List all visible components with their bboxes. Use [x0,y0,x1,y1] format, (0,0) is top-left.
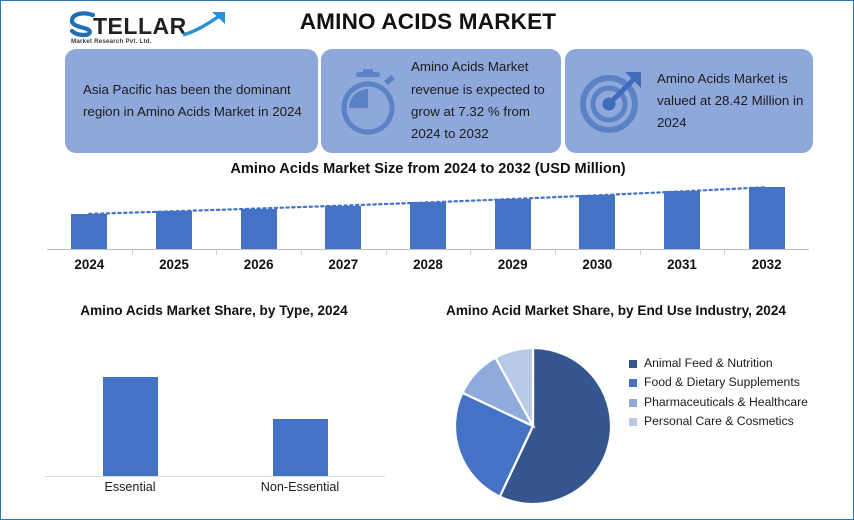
x-axis-tick [470,249,471,255]
legend-swatch-icon [629,360,637,368]
page-title: AMINO ACIDS MARKET [1,9,854,35]
market-size-chart-title: Amino Acids Market Size from 2024 to 203… [1,161,854,177]
stopwatch-icon [329,62,407,140]
callout-text: Amino Acids Market revenue is expected t… [407,56,561,145]
pie-legend: Animal Feed & NutritionFood & Dietary Su… [629,355,851,432]
legend-swatch-icon [629,418,637,426]
x-axis-tick [555,249,556,255]
x-label-2031: 2031 [640,257,724,272]
legend-label: Personal Care & Cosmetics [644,413,794,430]
callout-text: Asia Pacific has been the dominant regio… [65,79,318,124]
x-label-2025: 2025 [132,257,216,272]
legend-label: Pharmaceuticals & Healthcare [644,394,808,411]
x-axis-line [47,249,809,250]
x-label-2032: 2032 [725,257,809,272]
x-axis-tick [724,249,725,255]
x-label-2030: 2030 [555,257,639,272]
market-share-by-type-chart: EssentialNon-Essential [45,359,385,509]
x-label-non-essential: Non-Essential [225,480,375,494]
market-share-by-end-use-chart-title: Amino Acid Market Share, by End Use Indu… [416,301,816,321]
x-label-2024: 2024 [47,257,131,272]
legend-item: Personal Care & Cosmetics [629,413,851,430]
target-dartboard-icon [573,62,651,140]
legend-item: Animal Feed & Nutrition [629,355,851,372]
callout-cagr: Amino Acids Market revenue is expected t… [321,49,561,153]
infographic-canvas: TELLAR Market Research Pvt. Ltd. AMINO A… [0,0,854,520]
legend-label: Food & Dietary Supplements [644,374,800,391]
type-axis-line [45,476,385,477]
legend-label: Animal Feed & Nutrition [644,355,773,372]
type-plot-area [45,359,385,476]
x-axis-tick [301,249,302,255]
x-axis-labels: 202420252026202720282029203020312032 [47,257,809,283]
market-size-chart: 202420252026202720282029203020312032 [47,181,809,283]
x-label-essential: Essential [55,480,205,494]
x-axis-tick [386,249,387,255]
market-share-by-end-use-pie [453,346,613,506]
bar-non-essential [273,419,328,477]
market-share-by-type-chart-title: Amino Acids Market Share, by Type, 2024 [39,301,389,321]
legend-item: Pharmaceuticals & Healthcare [629,394,851,411]
x-label-2026: 2026 [217,257,301,272]
brand-subtitle: Market Research Pvt. Ltd. [71,38,152,45]
callout-dominant-region: Asia Pacific has been the dominant regio… [65,49,318,153]
type-axis-labels: EssentialNon-Essential [45,480,385,508]
trendline [47,181,809,249]
x-axis-tick [132,249,133,255]
x-axis-tick [216,249,217,255]
x-label-2028: 2028 [386,257,470,272]
bar-essential [103,377,158,476]
x-label-2027: 2027 [301,257,385,272]
legend-swatch-icon [629,399,637,407]
legend-item: Food & Dietary Supplements [629,374,851,391]
market-size-plot-area [47,181,809,249]
x-axis-tick [640,249,641,255]
legend-swatch-icon [629,379,637,387]
callout-text: Amino Acids Market is valued at 28.42 Mi… [651,68,813,135]
callout-market-value: Amino Acids Market is valued at 28.42 Mi… [565,49,813,153]
x-label-2029: 2029 [471,257,555,272]
